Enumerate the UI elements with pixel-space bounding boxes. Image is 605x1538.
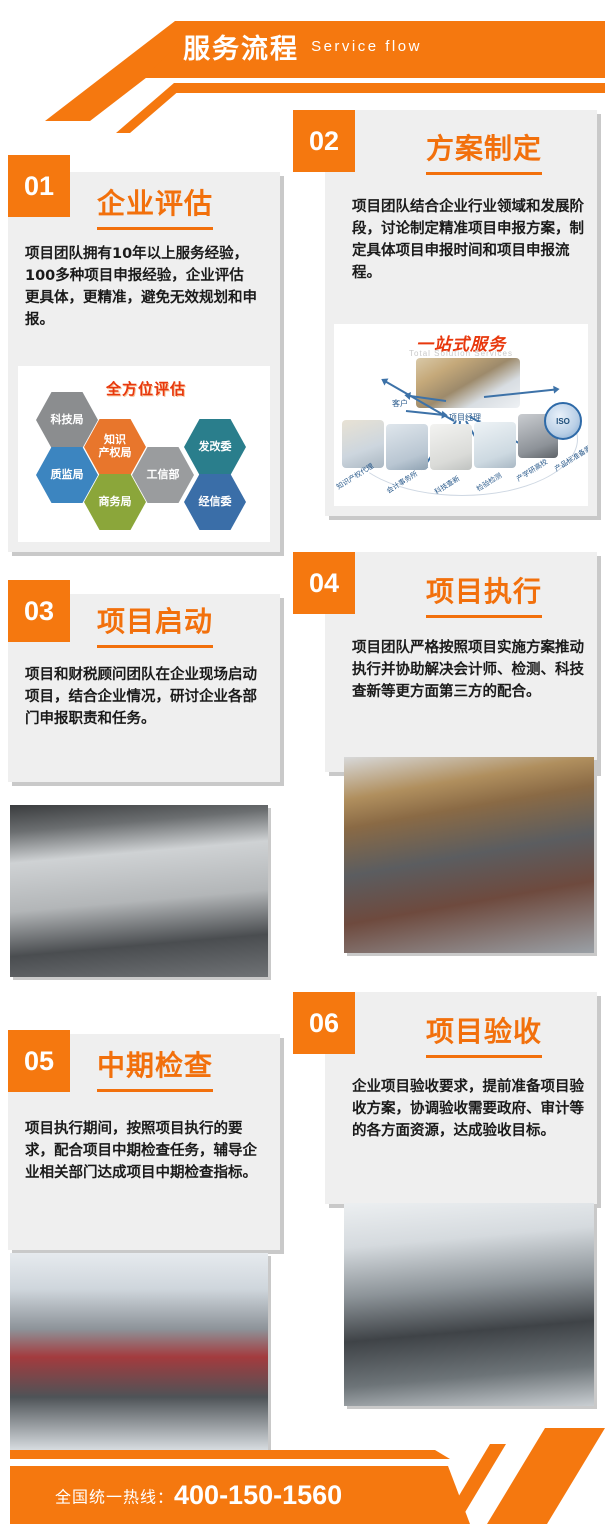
one-stop-item-photo-1	[342, 420, 384, 468]
card-01-number-badge: 01	[8, 155, 70, 217]
hexagon-diagram-title: 全方位评估	[106, 378, 186, 399]
hexagon-label: 科技局	[51, 414, 84, 427]
header-title-group: 服务流程Service flow	[0, 27, 605, 75]
card-04-number-badge: 04	[293, 552, 355, 614]
card-04-photo	[344, 757, 594, 953]
footer-stripe	[10, 1450, 605, 1459]
hexagon-fagai: 发改委	[184, 419, 246, 475]
page-subtitle: Service flow	[311, 38, 422, 55]
one-stop-node-client: 客户	[392, 398, 408, 409]
card-03-description: 项目和财税顾问团队在企业现场启动项目，结合企业情况，研讨企业各部门申报职责和任务…	[25, 664, 257, 730]
hexagon-label: 质监局	[51, 469, 84, 482]
footer-hotline: 全国统一热线：400-150-1560	[55, 1480, 342, 1511]
card-03-number-badge: 03	[8, 580, 70, 642]
card-01-description: 项目团队拥有10年以上服务经验，100多种项目申报经验，企业评估更具体，更精准，…	[25, 243, 257, 331]
card-02-one-stop-service-diagram: 一站式服务 Total Solution Services 客户 项目经理 IS…	[334, 324, 588, 506]
card-01-hexagon-diagram: 全方位评估 科技局 知识 产权局 质监局 工信部 商务局 发改委 经信委	[18, 366, 270, 542]
hexagon-label: 知识 产权局	[99, 434, 132, 460]
iso-seal-label: ISO	[556, 417, 570, 426]
one-stop-item-photo-3	[430, 424, 472, 470]
card-04-description: 项目团队严格按照项目实施方案推动执行并协助解决会计师、检测、科技查新等更方面第三…	[352, 637, 584, 703]
hexagon-jingxin: 经信委	[184, 474, 246, 530]
card-04-title: 项目执行	[426, 570, 542, 618]
card-06-number-badge: 06	[293, 992, 355, 1054]
iso-seal-icon: ISO	[544, 402, 582, 440]
card-06-title: 项目验收	[426, 1010, 542, 1058]
card-05-number-badge: 05	[8, 1030, 70, 1092]
card-02-description: 项目团队结合企业行业领域和发展阶段，讨论制定精准项目申报方案，制定具体项目申报时…	[352, 196, 584, 284]
hexagon-label: 经信委	[199, 496, 232, 509]
card-05-description: 项目执行期间，按照项目执行的要求，配合项目中期检查任务，辅导企业相关部门达成项目…	[25, 1118, 257, 1184]
card-02-title: 方案制定	[426, 127, 542, 175]
page-title: 服务流程	[183, 34, 299, 64]
card-06-photo	[344, 1203, 594, 1406]
card-06-description: 企业项目验收要求，提前准备项目验收方案，协调验收需要政府、审计等的各方面资源，达…	[352, 1076, 584, 1142]
page-header: 服务流程Service flow	[0, 0, 605, 110]
card-02-number-badge: 02	[293, 110, 355, 172]
card-01-title: 企业评估	[97, 182, 213, 230]
card-05-title: 中期检查	[97, 1044, 213, 1092]
hexagon-label: 商务局	[99, 496, 132, 509]
hotline-number[interactable]: 400-150-1560	[174, 1480, 342, 1510]
hexagon-label: 工信部	[147, 469, 180, 482]
card-03-photo	[10, 805, 268, 977]
one-stop-item-photo-4	[474, 422, 516, 468]
hexagon-label: 发改委	[199, 441, 232, 454]
card-03-title: 项目启动	[97, 600, 213, 648]
one-stop-subtitle: Total Solution Services	[334, 349, 588, 358]
page-footer: 全国统一热线：400-150-1560	[0, 1408, 605, 1538]
hotline-label: 全国统一热线：	[55, 1490, 174, 1507]
one-stop-item-photo-2	[386, 424, 428, 470]
